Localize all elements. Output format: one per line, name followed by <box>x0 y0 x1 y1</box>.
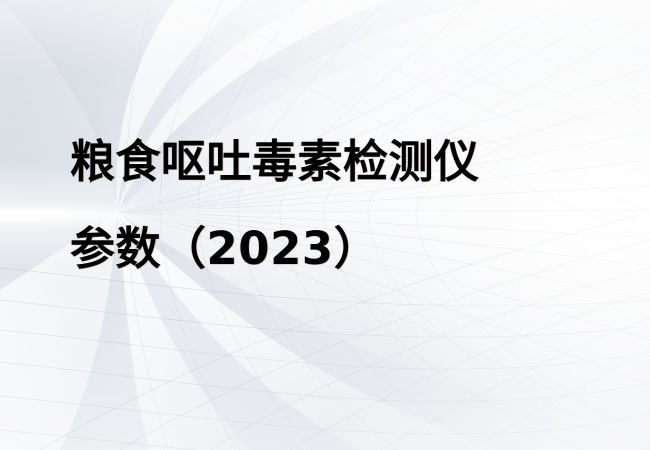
title-line-2: 参数（2023） <box>70 205 610 292</box>
page-title: 粮食呕吐毒素检测仪 参数（2023） <box>70 118 610 292</box>
title-line-1: 粮食呕吐毒素检测仪 <box>70 118 610 205</box>
title-banner: 粮食呕吐毒素检测仪 参数（2023） <box>0 0 650 450</box>
